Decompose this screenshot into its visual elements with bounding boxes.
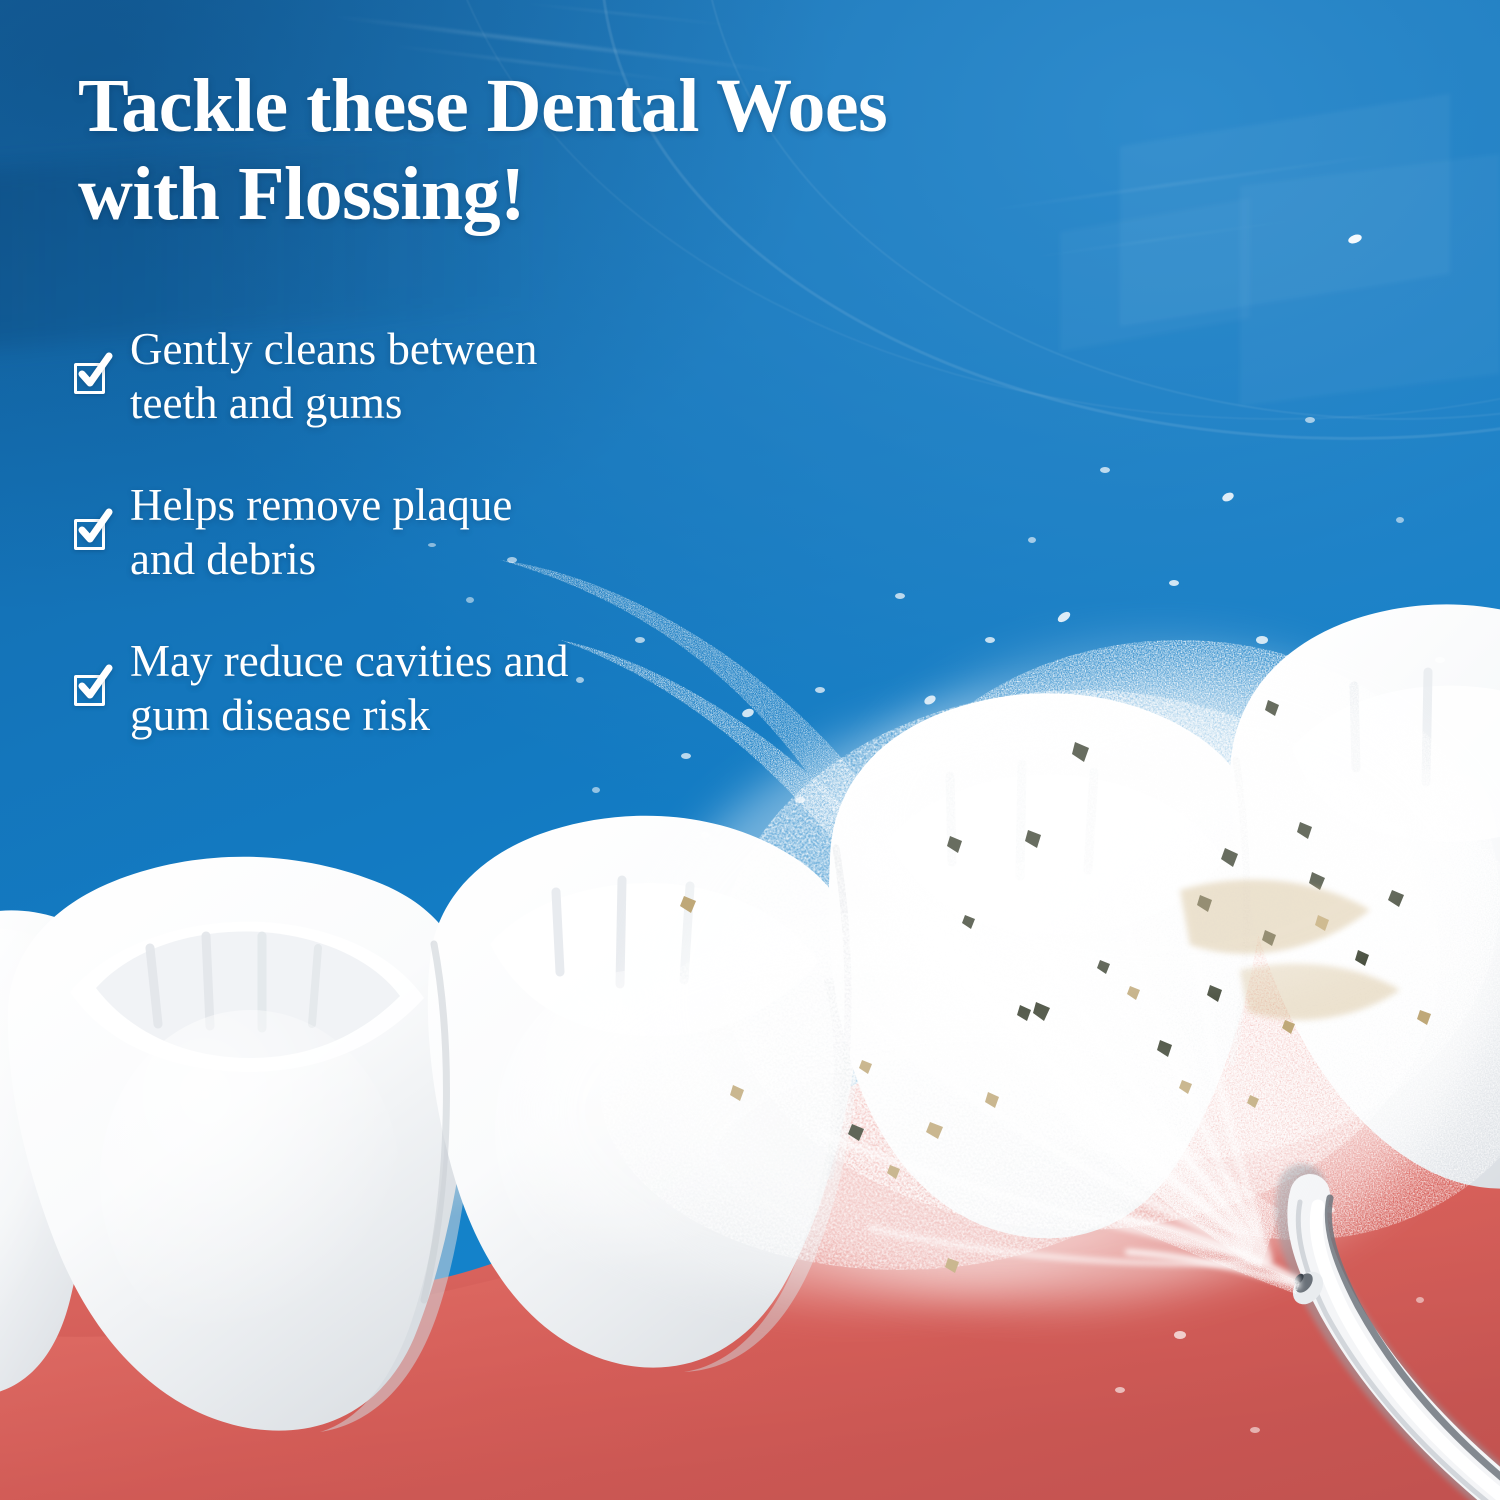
checked-checkbox-icon	[74, 519, 105, 550]
list-item-label: May reduce cavities and gum disease risk	[130, 634, 569, 742]
list-item: May reduce cavities and gum disease risk	[74, 634, 774, 742]
checked-checkbox-icon	[74, 675, 105, 706]
background-panel-2	[1240, 154, 1500, 406]
list-item-label: Helps remove plaque and debris	[130, 478, 512, 586]
infographic-canvas: Tackle these Dental Woes with Flossing! …	[0, 0, 1500, 1500]
list-item-label: Gently cleans between teeth and gums	[130, 322, 537, 430]
benefits-list: Gently cleans between teeth and gums Hel…	[74, 322, 774, 790]
page-title: Tackle these Dental Woes with Flossing!	[78, 62, 1128, 238]
checked-checkbox-icon	[74, 363, 105, 394]
list-item: Helps remove plaque and debris	[74, 478, 774, 586]
list-item: Gently cleans between teeth and gums	[74, 322, 774, 430]
